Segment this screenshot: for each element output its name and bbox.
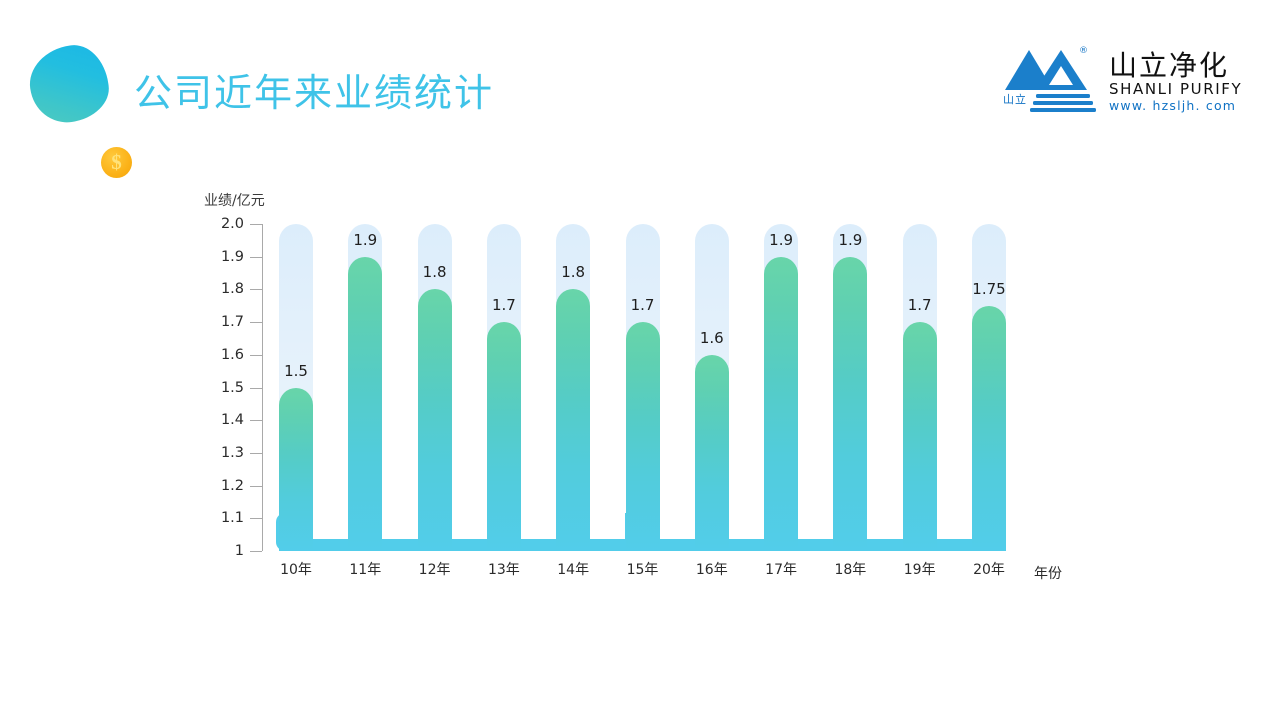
y-axis-tick-label: 1.5 — [200, 381, 244, 396]
y-axis-tick-label: 1.2 — [200, 479, 244, 494]
bar-value-label: 1.7 — [890, 298, 950, 313]
base-bar-gap — [937, 513, 972, 539]
bar[interactable] — [972, 306, 1006, 551]
bar-value-label: 1.8 — [405, 265, 465, 280]
base-bar-gap — [729, 513, 764, 539]
x-axis-tick-label: 19年 — [890, 563, 950, 577]
bar-value-label: 1.75 — [959, 282, 1019, 297]
bar-value-label: 1.7 — [474, 298, 534, 313]
y-axis-tick — [250, 420, 262, 421]
base-bar-gap — [590, 513, 625, 539]
x-axis-tick-label: 11年 — [335, 563, 395, 577]
y-axis-tick — [250, 453, 262, 454]
x-axis-tick-label: 20年 — [959, 563, 1019, 577]
x-axis-tick-label: 18年 — [820, 563, 880, 577]
x-axis-tick-label: 15年 — [613, 563, 673, 577]
bar[interactable] — [764, 257, 798, 551]
base-bar-gap — [798, 513, 833, 539]
bar-value-label: 1.9 — [820, 233, 880, 248]
y-axis-tick — [250, 289, 262, 290]
bar[interactable] — [626, 322, 660, 551]
y-axis-tick-label: 1.8 — [200, 282, 244, 297]
y-axis-tick — [250, 257, 262, 258]
bar-value-label: 1.7 — [613, 298, 673, 313]
x-axis-tick-label: 16年 — [682, 563, 742, 577]
bar[interactable] — [348, 257, 382, 551]
y-axis-tick-label: 1.1 — [200, 511, 244, 526]
slide-canvas: $ 公司近年来业绩统计 ® 山立 山立净化 SHANLI PURIFY www.… — [0, 0, 1280, 720]
y-axis-tick — [250, 388, 262, 389]
y-axis-tick-label: 2.0 — [200, 217, 244, 232]
performance-bar-chart: 业绩/亿元 2.01.91.81.71.61.51.41.31.21.11 1.… — [0, 0, 1280, 720]
x-axis-title: 年份 — [1034, 563, 1062, 583]
bar[interactable] — [279, 388, 313, 551]
bar-value-label: 1.6 — [682, 331, 742, 346]
base-bar-gap — [660, 513, 695, 539]
base-bar-gap — [521, 513, 556, 539]
bar[interactable] — [695, 355, 729, 551]
y-axis-tick-label: 1.4 — [200, 413, 244, 428]
y-axis-tick — [250, 355, 262, 356]
x-axis-tick-label: 13年 — [474, 563, 534, 577]
y-axis-tick — [250, 224, 262, 225]
y-axis-tick-label: 1.7 — [200, 315, 244, 330]
x-axis-tick-label: 12年 — [405, 563, 465, 577]
bar[interactable] — [833, 257, 867, 551]
y-axis-title: 业绩/亿元 — [204, 190, 265, 210]
y-axis-tick — [250, 518, 262, 519]
y-axis-tick-label: 1.9 — [200, 250, 244, 265]
y-axis-tick — [250, 486, 262, 487]
y-axis-tick-label: 1 — [200, 544, 244, 559]
y-axis-tick — [250, 551, 262, 552]
bar-value-label: 1.8 — [543, 265, 603, 280]
base-bar-gap — [867, 513, 902, 539]
bar-value-label: 1.9 — [335, 233, 395, 248]
x-axis-tick-label: 14年 — [543, 563, 603, 577]
bar[interactable] — [487, 322, 521, 551]
base-bar-gap — [452, 513, 487, 539]
x-axis-tick-label: 10年 — [266, 563, 326, 577]
y-axis-tick — [250, 322, 262, 323]
y-axis-line — [262, 224, 263, 551]
bar-value-label: 1.9 — [751, 233, 811, 248]
y-axis-tick-label: 1.6 — [200, 348, 244, 363]
bar-value-label: 1.5 — [266, 364, 326, 379]
bar[interactable] — [418, 289, 452, 551]
base-bar-gap — [313, 513, 348, 539]
base-bar-gap — [382, 513, 417, 539]
bar[interactable] — [556, 289, 590, 551]
x-axis-tick-label: 17年 — [751, 563, 811, 577]
y-axis-tick-label: 1.3 — [200, 446, 244, 461]
bar[interactable] — [903, 322, 937, 551]
